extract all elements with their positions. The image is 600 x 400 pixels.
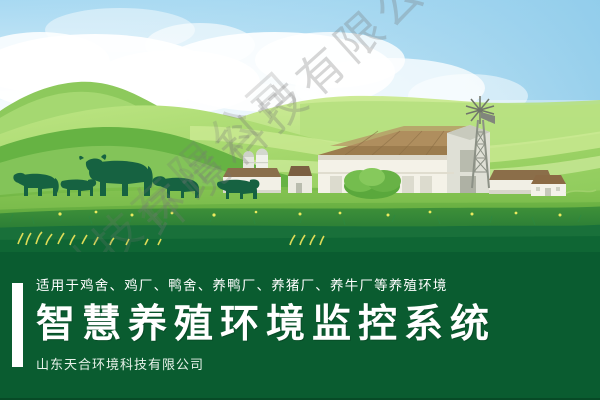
caption-band: 适用于鸡舍、鸡厂、鸭舍、养鸭厂、养猪厂、养牛厂等养殖环境 智慧养殖环境监控系统 … [0, 252, 600, 400]
small-house-left [288, 166, 312, 193]
page-title: 智慧养殖环境监控系统 [36, 300, 576, 350]
farm-landscape-illustration [0, 0, 600, 252]
bush-group [344, 168, 401, 199]
landscape-svg [0, 0, 600, 252]
cottage [531, 175, 566, 196]
company-name: 山东天合环境科技有限公司 [36, 355, 576, 375]
accent-bar [12, 283, 23, 367]
subtitle-text: 适用于鸡舍、鸡厂、鸭舍、养鸭厂、养猪厂、养牛厂等养殖环境 [36, 276, 576, 296]
product-banner-poster: 环境科技有限公司 环境科技有限公司 适用于鸡舍、鸡厂、鸭舍、养鸭厂、养猪厂、养牛… [0, 0, 600, 400]
band-text-block: 适用于鸡舍、鸡厂、鸭舍、养鸭厂、养猪厂、养牛厂等养殖环境 智慧养殖环境监控系统 … [36, 276, 576, 375]
